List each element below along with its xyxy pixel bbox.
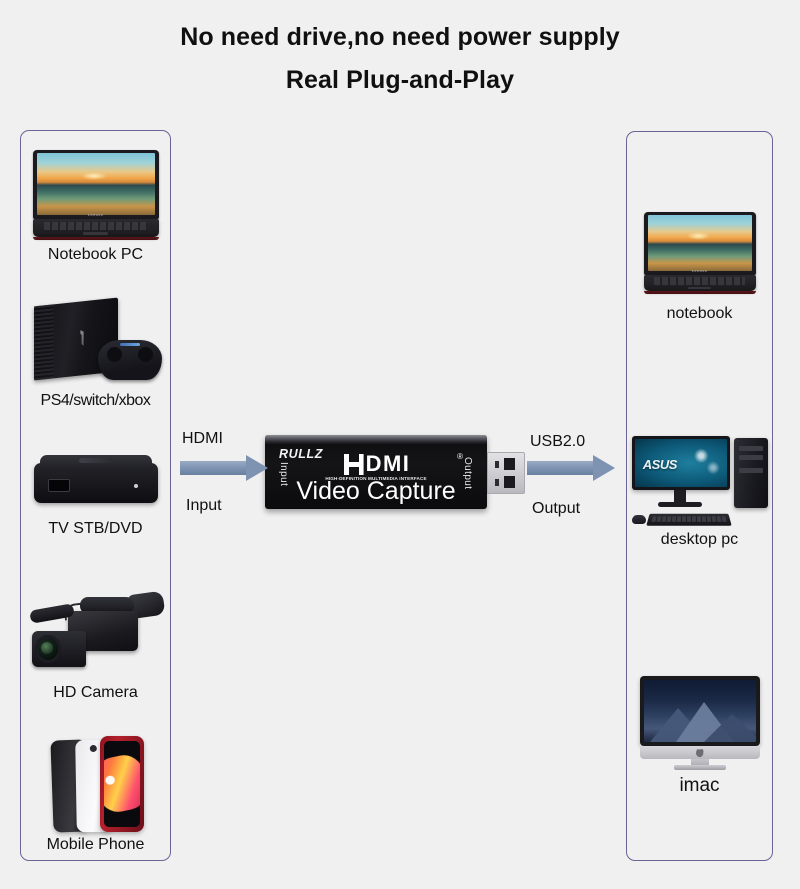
source-devices-panel: Lenovo Notebook PC PS4/switch/xbox [20, 130, 171, 861]
output-direction-label: Output [532, 500, 580, 518]
laptop-icon: Lenovo [627, 202, 772, 304]
diagram-canvas: No need drive,no need power supply Real … [0, 0, 800, 889]
device-output-port-label: Output [462, 457, 473, 489]
camcorder-icon [21, 579, 170, 683]
video-capture-device: RULLZ Input Output HDMI DMI ® HIGH-DEFIN… [265, 435, 487, 509]
destination-label-notebook: notebook [667, 304, 733, 324]
page-title-line2: Real Plug-and-Play [0, 59, 800, 102]
smartphone-icon [21, 725, 170, 835]
destination-label-imac: imac [679, 776, 719, 796]
registered-trademark-icon: ® [457, 452, 463, 461]
output-flow-arrow [527, 455, 615, 481]
device-input-port-label: Input [278, 462, 289, 486]
source-label-tv-stb: TV STB/DVD [48, 519, 142, 539]
device-product-name: Video Capture [296, 479, 455, 504]
input-connection-type-label: HDMI [182, 430, 223, 448]
destination-item-desktop-pc: desktop pc [627, 420, 772, 550]
set-top-box-icon [21, 435, 170, 519]
destination-label-desktop-pc: desktop pc [661, 530, 738, 550]
laptop-icon: Lenovo [21, 145, 170, 245]
source-label-mobile-phone: Mobile Phone [47, 835, 145, 855]
source-item-game-console: PS4/switch/xbox [21, 279, 170, 411]
destination-item-imac: imac [627, 656, 772, 796]
header-titles: No need drive,no need power supply Real … [0, 16, 800, 102]
device-top-edge [265, 435, 487, 444]
source-label-hd-camera: HD Camera [53, 683, 137, 703]
source-item-tv-stb: TV STB/DVD [21, 427, 170, 539]
input-direction-label: Input [186, 497, 222, 515]
source-label-notebook-pc: Notebook PC [48, 245, 143, 265]
source-item-mobile-phone: Mobile Phone [21, 719, 170, 855]
game-console-icon [21, 287, 170, 391]
desktop-computer-icon [627, 430, 772, 530]
hdmi-logo-h-glyph [344, 454, 364, 475]
source-label-game-console: PS4/switch/xbox [41, 391, 151, 411]
source-item-hd-camera: HD Camera [21, 571, 170, 703]
input-flow-arrow [180, 455, 268, 481]
destination-devices-panel: Lenovo notebook [626, 131, 773, 861]
output-connection-type-label: USB2.0 [530, 433, 585, 451]
imac-icon [627, 672, 772, 776]
usb-a-connector [487, 452, 525, 494]
destination-item-notebook: Lenovo notebook [627, 194, 772, 324]
page-title-line1: No need drive,no need power supply [0, 16, 800, 59]
source-item-notebook-pc: Lenovo Notebook PC [21, 137, 170, 265]
